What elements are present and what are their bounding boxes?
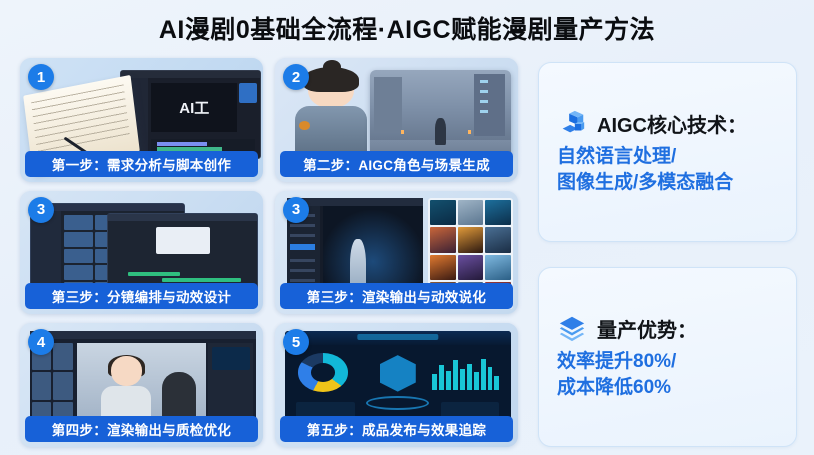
info-panel-1-title: AIGC核心技术： bbox=[597, 109, 747, 138]
step-card-5[interactable]: 4 第四步：渲染输出与质检优化 bbox=[20, 323, 263, 447]
info-panel-1-line-2: 图像生成/多模态融合 bbox=[557, 170, 780, 196]
step-card-4[interactable]: 3 第三步：渲染输出与动效说化 bbox=[275, 191, 518, 315]
step-badge-4: 3 bbox=[283, 197, 309, 223]
step-card-row-2: 3 第三步：分镜编排与动效设计 bbox=[20, 191, 518, 315]
step-label-6: 第五步：成品发布与效果追踪 bbox=[280, 416, 513, 442]
step-card-row-1: AI工 1 第一步：需求分析与脚本创作 bbox=[20, 58, 518, 182]
step-label-1: 第一步：需求分析与脚本创作 bbox=[25, 151, 258, 177]
header: AI漫剧0基础全流程·AIGC赋能漫剧量产方法 bbox=[0, 0, 814, 56]
layers-icon bbox=[557, 313, 587, 343]
step-card-3[interactable]: 3 第三步：分镜编排与动效设计 bbox=[20, 191, 263, 315]
step-label-5: 第四步：渲染输出与质检优化 bbox=[25, 416, 258, 442]
step-card-1[interactable]: AI工 1 第一步：需求分析与脚本创作 bbox=[20, 58, 263, 182]
step-cards-column: AI工 1 第一步：需求分析与脚本创作 bbox=[20, 58, 518, 447]
step-card-row-3: 4 第四步：渲染输出与质检优化 bbox=[20, 323, 518, 447]
step-label-2: 第二步：AIGC角色与场景生成 bbox=[280, 151, 513, 177]
info-panels-column: AIGC核心技术： 自然语言处理/ 图像生成/多模态融合 量产优势： 效率提升8… bbox=[538, 58, 797, 447]
info-panel-2-line-2: 成本降低60% bbox=[557, 375, 780, 401]
donut-chart bbox=[298, 353, 348, 392]
step-label-3: 第三步：分镜编排与动效设计 bbox=[25, 283, 258, 309]
info-panel-1-header: AIGC核心技术： bbox=[557, 108, 780, 138]
hex-graphic bbox=[380, 355, 416, 392]
step-label-4: 第三步：渲染输出与动效说化 bbox=[280, 283, 513, 309]
step-badge-2: 2 bbox=[283, 64, 309, 90]
step-badge-1: 1 bbox=[28, 64, 54, 90]
main-layout: AI工 1 第一步：需求分析与脚本创作 bbox=[0, 58, 814, 455]
step-card-2[interactable]: 2 第二步：AIGC角色与场景生成 bbox=[275, 58, 518, 182]
info-panel-aigc-core-tech: AIGC核心技术： 自然语言处理/ 图像生成/多模态融合 bbox=[538, 62, 797, 242]
info-panel-2-title: 量产优势： bbox=[597, 314, 697, 343]
info-panel-2-line-1: 效率提升80%/ bbox=[557, 349, 780, 375]
script-editor-mock: AI工 bbox=[120, 70, 261, 159]
bar-chart bbox=[432, 355, 500, 389]
step-card-6[interactable]: 5 第五步：成品发布与效果追踪 bbox=[275, 323, 518, 447]
info-panel-2-header: 量产优势： bbox=[557, 313, 780, 343]
info-panel-1-line-1: 自然语言处理/ bbox=[557, 144, 780, 170]
aigc-scene-image bbox=[370, 70, 511, 159]
step-badge-3: 3 bbox=[28, 197, 54, 223]
editor-canvas-text: AI工 bbox=[151, 83, 237, 132]
cube-icon bbox=[557, 108, 587, 138]
info-panel-mass-production-advantage: 量产优势： 效率提升80%/ 成本降低60% bbox=[538, 267, 797, 447]
page-title: AI漫剧0基础全流程·AIGC赋能漫剧量产方法 bbox=[159, 10, 655, 46]
